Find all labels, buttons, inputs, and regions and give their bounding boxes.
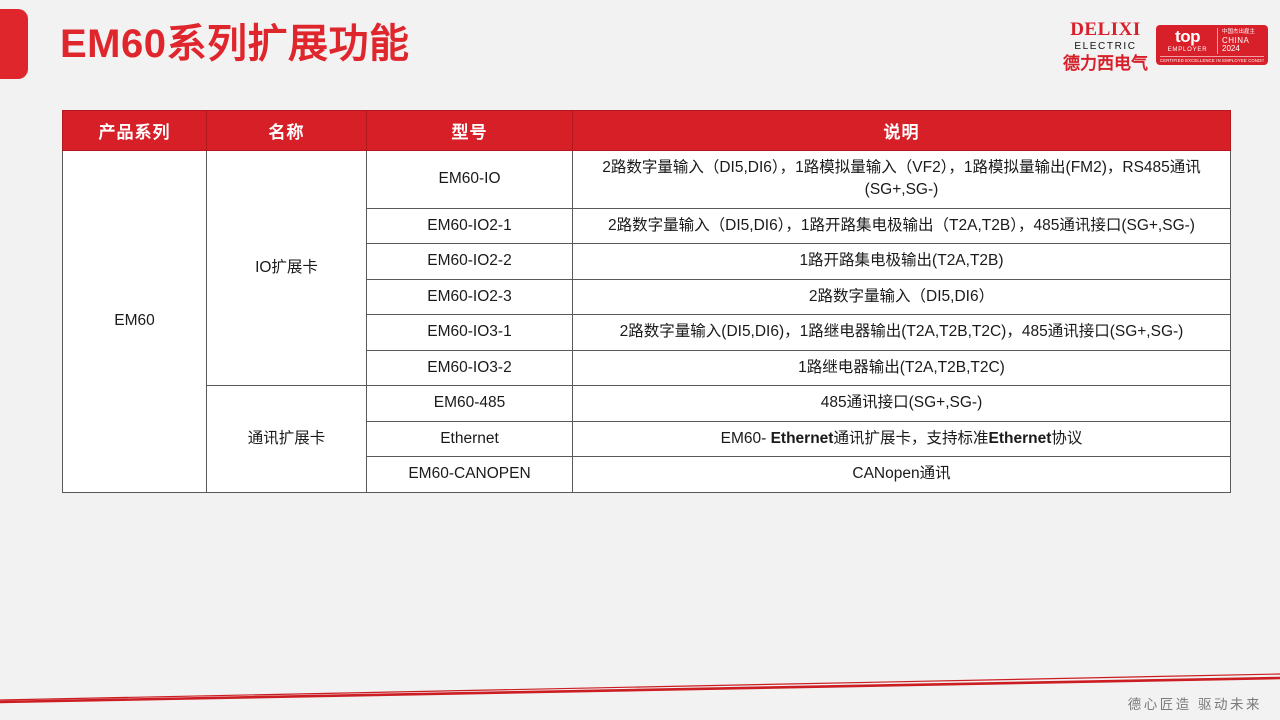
cell-description: CANopen通讯 [573,457,1231,492]
delixi-chinese-name: 德力西电气 [1063,55,1148,72]
footer-line-thin [0,674,1280,700]
brand-logo-area: DELIXI ELECTRIC 德力西电气 top EMPLOYER 中国杰出雇… [1063,14,1268,76]
column-header-model: 型号 [367,111,573,151]
footer-decorative-line [0,666,1280,720]
page-title: EM60系列扩展功能 [60,14,410,74]
description-fragment: Ethernet [988,430,1051,447]
cell-description: 485通讯接口(SG+,SG-) [573,386,1231,421]
column-header-description: 说明 [573,111,1231,151]
top-employer-year: 2024 [1222,45,1264,54]
cell-description: 2路数字量输入(DI5,DI6)，1路继电器输出(T2A,T2B,T2C)，48… [573,315,1231,350]
delixi-electric-label: ELECTRIC [1063,42,1148,52]
cell-group-name-comm: 通讯扩展卡 [207,386,367,492]
slide-canvas: EM60系列扩展功能 DELIXI ELECTRIC 德力西电气 top EMP… [0,0,1280,720]
left-accent-bar [0,9,28,79]
cell-description: EM60- Ethernet通讯扩展卡，支持标准Ethernet协议 [573,421,1231,456]
description-fragment: 通讯扩展卡，支持标准 [833,430,988,447]
footer-line-svg [0,666,1280,720]
table-row: EM60 IO扩展卡 EM60-IO 2路数字量输入（DI5,DI6），1路模拟… [63,151,1231,209]
cell-description: 1路继电器输出(T2A,T2B,T2C) [573,350,1231,385]
table-header-row: 产品系列 名称 型号 说明 [63,111,1231,151]
cell-model: EM60-IO3-1 [367,315,573,350]
cell-model: EM60-IO2-2 [367,244,573,279]
top-employer-certified-text: CERTIFIED EXCELLENCE IN EMPLOYEE CONDITI… [1160,56,1264,63]
expansion-function-table: 产品系列 名称 型号 说明 EM60 IO扩展卡 EM60-IO 2路数字量输入… [62,110,1231,493]
footer-line-thick [0,678,1280,702]
delixi-logo: DELIXI ELECTRIC 德力西电气 [1063,18,1148,72]
cell-model: EM60-IO2-3 [367,279,573,314]
description-fragment: 协议 [1051,430,1082,447]
column-header-product-series: 产品系列 [63,111,207,151]
cell-description: 2路数字量输入（DI5,DI6），1路模拟量输入（VF2），1路模拟量输出(FM… [573,151,1231,209]
top-employer-badge: top EMPLOYER 中国杰出雇主 CHINA 2024 CERTIFIED… [1156,25,1268,65]
cell-model: EM60-IO2-1 [367,208,573,243]
cell-model: EM60-CANOPEN [367,457,573,492]
top-employer-employer-word: EMPLOYER [1160,46,1215,54]
cell-product-series: EM60 [63,151,207,493]
cell-description: 2路数字量输入（DI5,DI6） [573,279,1231,314]
cell-description: 1路开路集电极输出(T2A,T2B) [573,244,1231,279]
table-row: 通讯扩展卡 EM60-485 485通讯接口(SG+,SG-) [63,386,1231,421]
cell-group-name-io: IO扩展卡 [207,151,367,386]
cell-description: 2路数字量输入（DI5,DI6），1路开路集电极输出（T2A,T2B），485通… [573,208,1231,243]
cell-model: EM60-485 [367,386,573,421]
top-employer-badge-body: top EMPLOYER 中国杰出雇主 CHINA 2024 [1160,28,1264,54]
delixi-wordmark: DELIXI [1063,20,1148,39]
footer-slogan: 德心匠造 驱动未来 [1128,693,1262,713]
cell-model: EM60-IO [367,151,573,209]
top-employer-top-word: top [1160,28,1215,45]
cell-model: Ethernet [367,421,573,456]
top-employer-details: 中国杰出雇主 CHINA 2024 [1218,28,1264,54]
top-employer-mark: top EMPLOYER [1160,28,1218,54]
column-header-name: 名称 [207,111,367,151]
description-fragment: Ethernet [771,430,834,447]
cell-model: EM60-IO3-2 [367,350,573,385]
description-fragment: EM60- [721,430,771,447]
